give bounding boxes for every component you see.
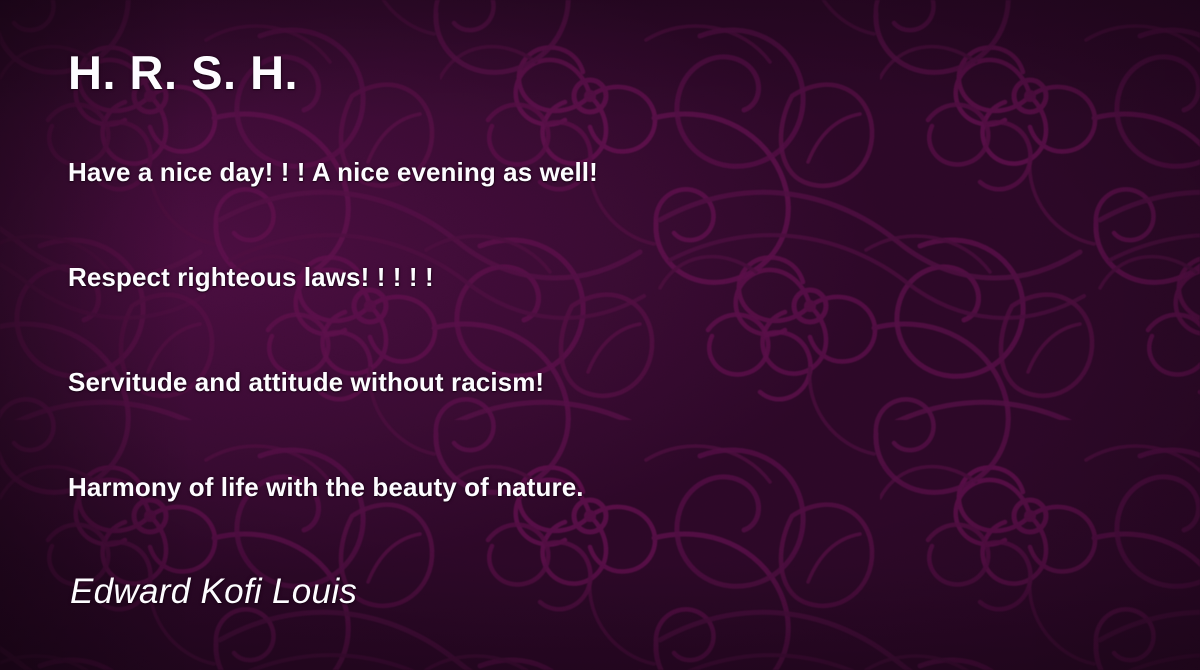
poem-title: H. R. S. H. bbox=[68, 48, 298, 97]
poem-author: Edward Kofi Louis bbox=[70, 572, 357, 612]
poem-line: Have a nice day! ! ! A nice evening as w… bbox=[68, 158, 598, 187]
poem-line: Harmony of life with the beauty of natur… bbox=[68, 473, 584, 502]
poem-card: H. R. S. H. Have a nice day! ! ! A nice … bbox=[0, 0, 1200, 670]
poem-line: Servitude and attitude without racism! bbox=[68, 368, 544, 397]
poem-content: H. R. S. H. Have a nice day! ! ! A nice … bbox=[0, 0, 1200, 670]
poem-line: Respect righteous laws! ! ! ! ! bbox=[68, 263, 434, 292]
